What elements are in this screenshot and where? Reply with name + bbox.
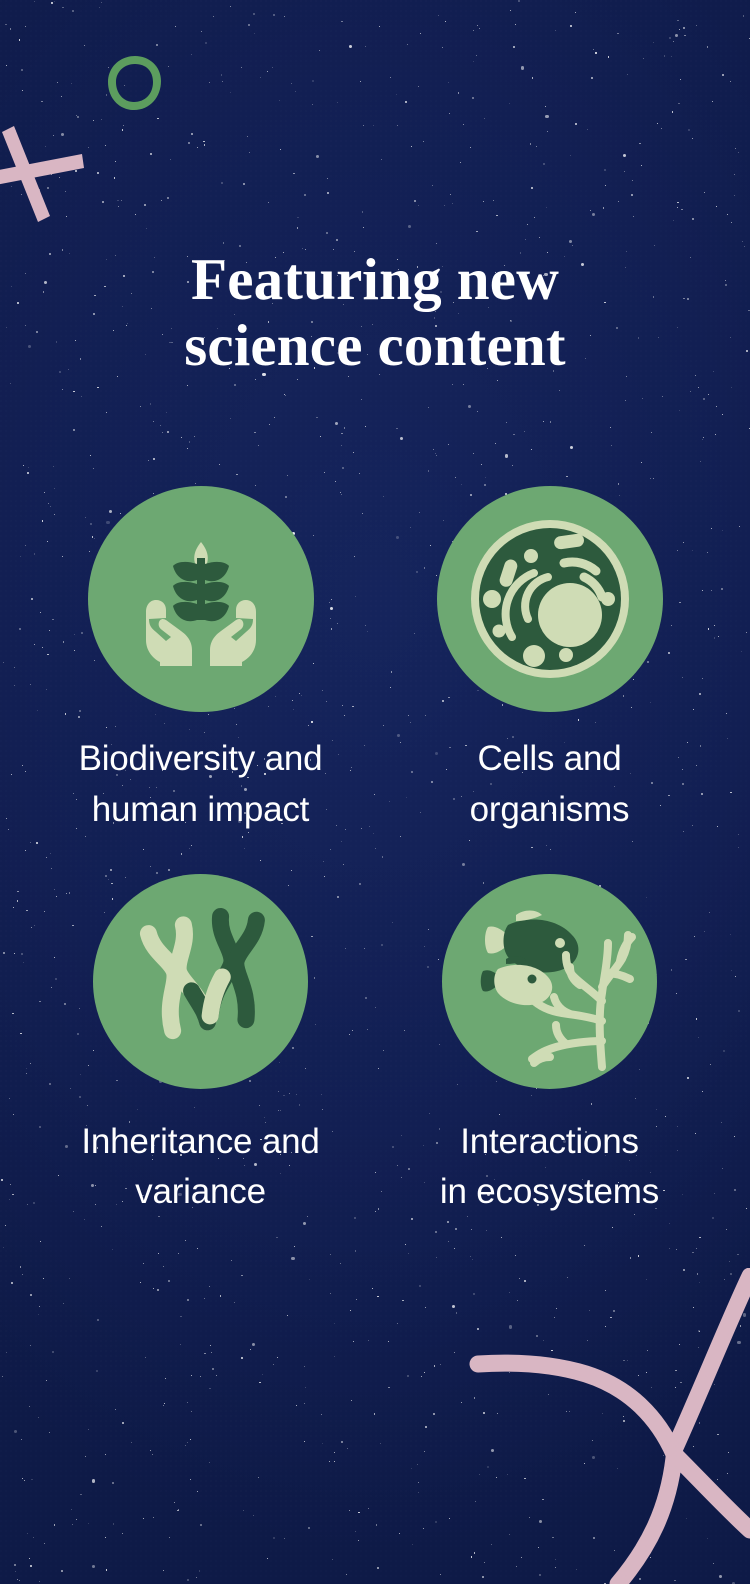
headline-line-2: science content xyxy=(70,312,680,378)
cross-doodle-icon xyxy=(0,118,96,228)
topic-label: Interactions in ecosystems xyxy=(440,1117,659,1219)
topic-badge xyxy=(88,486,314,712)
fish-and-coral-icon xyxy=(450,881,650,1081)
cell-diagram-icon xyxy=(466,515,634,683)
poster-root: Featuring new science content xyxy=(0,0,750,1584)
topic-label: Cells and organisms xyxy=(470,734,630,836)
topic-card-biodiversity[interactable]: Biodiversity and human impact xyxy=(26,486,375,836)
topic-label: Biodiversity and human impact xyxy=(79,734,323,836)
hands-holding-plant-icon xyxy=(126,524,276,674)
topic-badge xyxy=(442,874,657,1089)
chromosomes-icon xyxy=(122,902,280,1060)
topic-badge xyxy=(93,874,308,1089)
topic-card-ecosystems[interactable]: Interactions in ecosystems xyxy=(375,874,724,1219)
topic-card-cells[interactable]: Cells and organisms xyxy=(375,486,724,836)
page-title: Featuring new science content xyxy=(0,246,750,378)
ring-doodle-icon xyxy=(104,52,166,114)
topic-grid: Biodiversity and human impact xyxy=(26,486,724,1218)
topic-label: Inheritance and variance xyxy=(81,1117,319,1219)
topic-badge xyxy=(437,486,663,712)
topic-card-inheritance[interactable]: Inheritance and variance xyxy=(26,874,375,1219)
branch-doodle-icon xyxy=(400,1268,750,1584)
headline-line-1: Featuring new xyxy=(191,246,559,312)
